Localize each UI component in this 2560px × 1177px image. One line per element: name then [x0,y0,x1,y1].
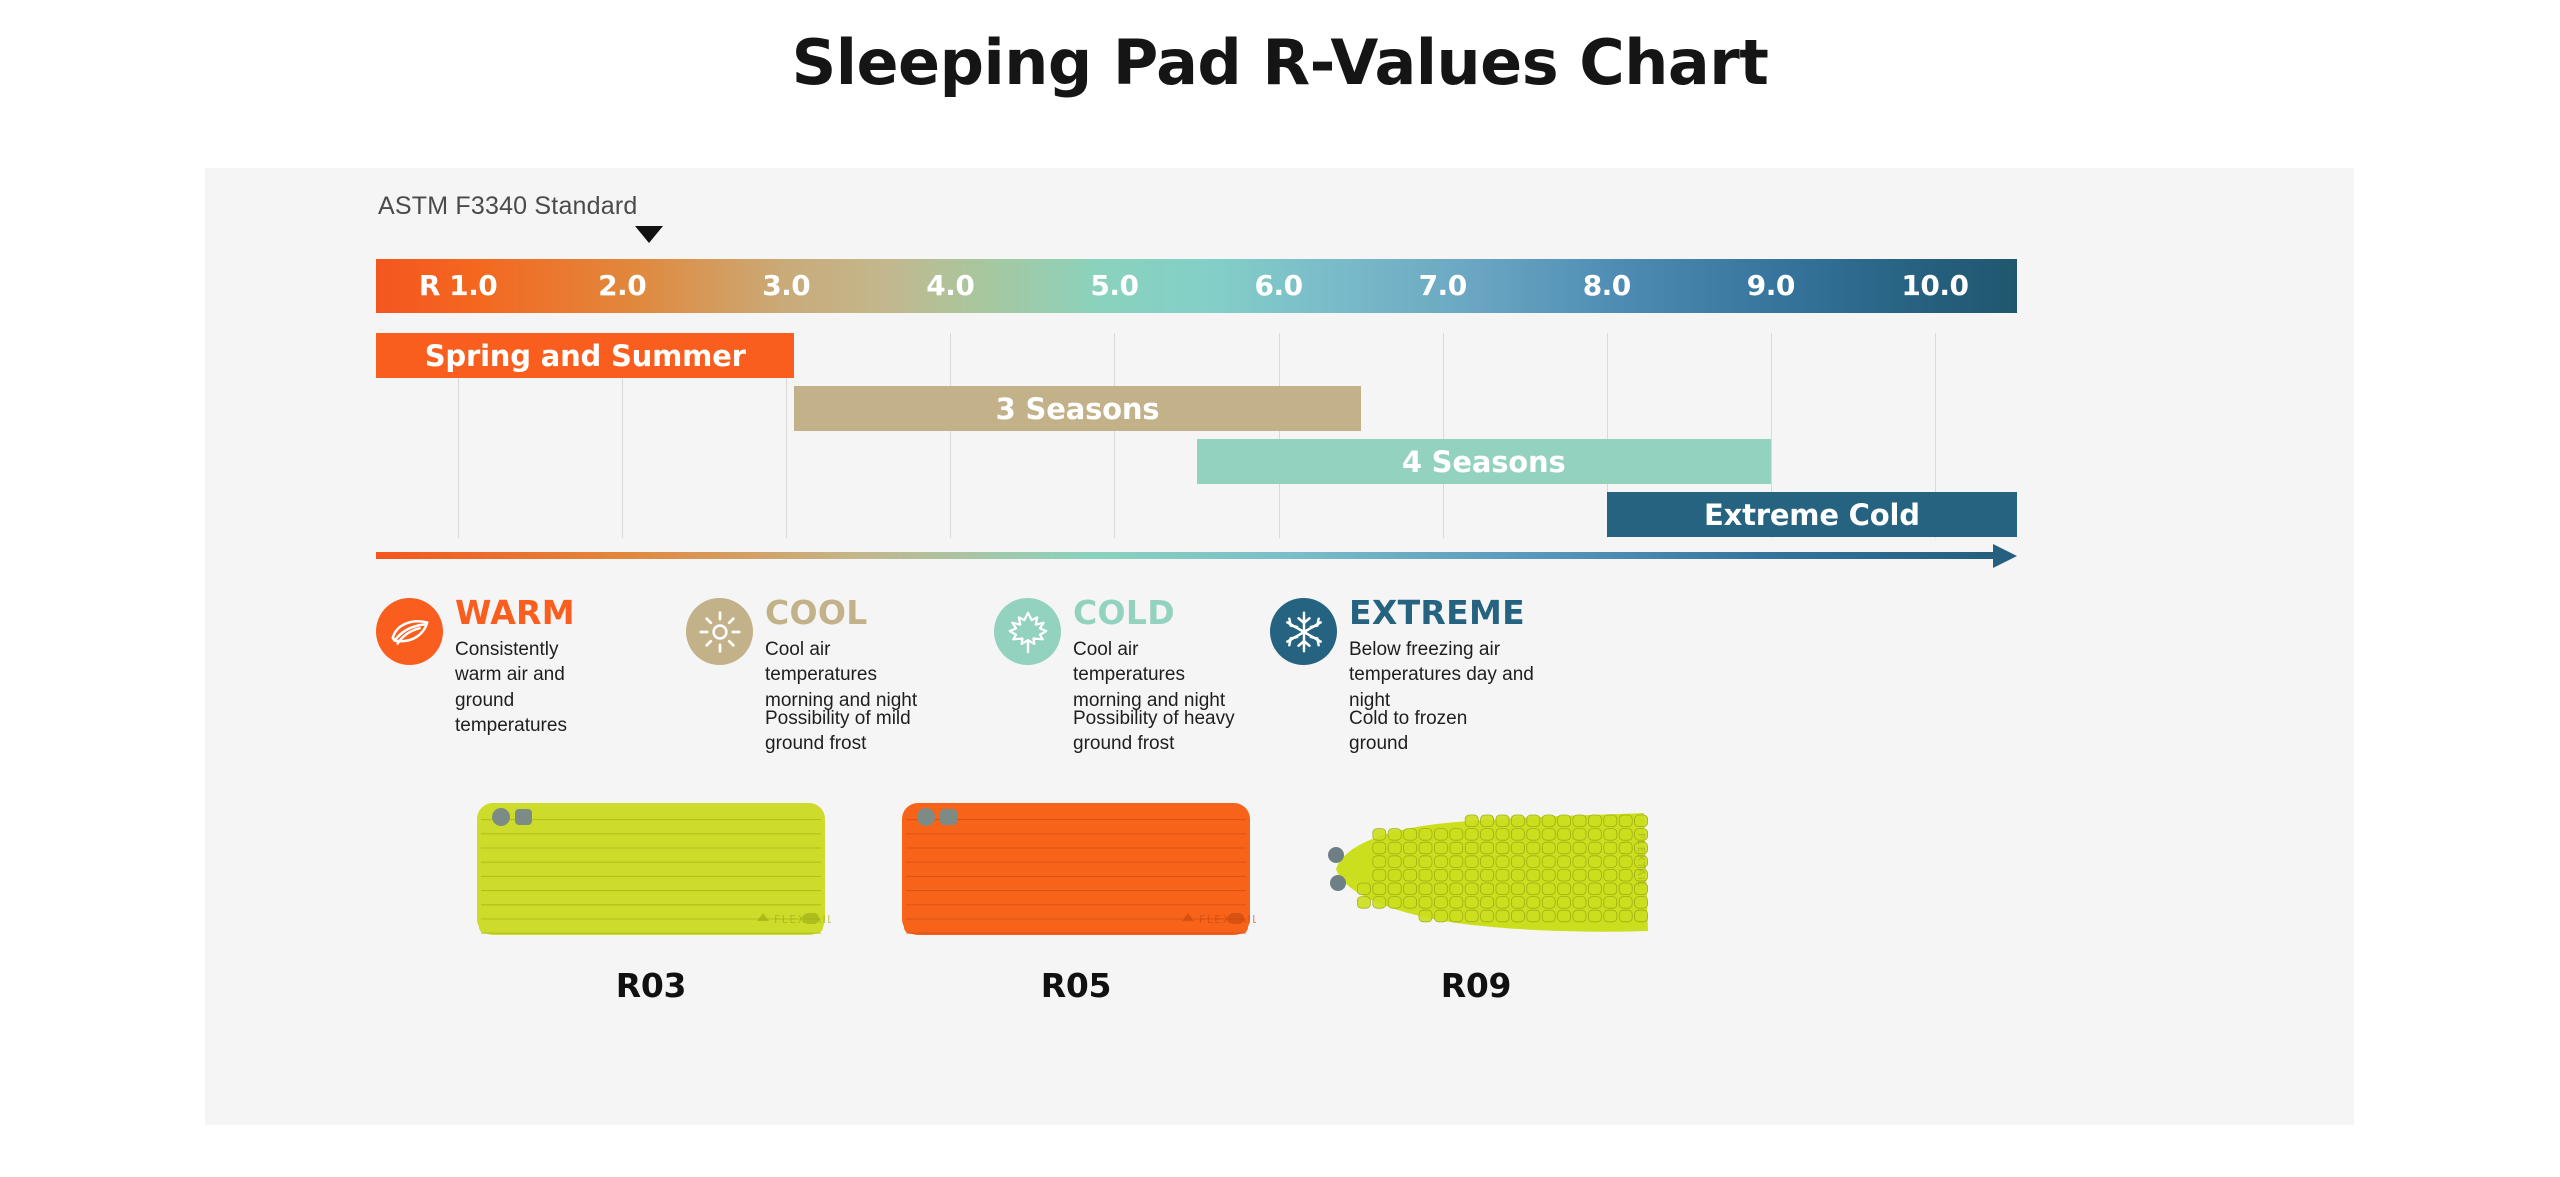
astm-marker-caret-icon [635,226,663,243]
product-image-rectangular-pad: FLEXTAIL [896,793,1256,958]
product-image-rectangular-pad: FLEXTAIL [471,793,831,958]
legend-description-primary: Consistently warm air and ground tempera… [455,637,605,738]
svg-text:FLEXTAIL: FLEXTAIL [1199,913,1256,926]
product-r09[interactable]: FLEXTAIL R09 [1296,793,1656,1005]
legend: WARMConsistently warm air and ground tem… [376,593,2096,758]
legend-description-secondary: Possibility of heavy ground frost [1073,706,1243,757]
scale-tick-6-0: 6.0 [1219,259,1339,313]
scale-tick-8-0: 8.0 [1547,259,1667,313]
svg-text:FLEXTAIL: FLEXTAIL [774,913,831,926]
scale-tick-4-0: 4.0 [890,259,1010,313]
legend-description-secondary: Cold to frozen ground [1349,706,1519,757]
leaf-icon [376,598,443,665]
scale-tick-2-0: 2.0 [562,259,682,313]
season-band-3-seasons: 3 Seasons [794,386,1360,431]
legend-title: COLD [1073,593,1175,632]
astm-standard-label: ASTM F3340 Standard [378,192,638,221]
svg-text:FLEXTAIL: FLEXTAIL [1635,833,1646,888]
legend-title: WARM [455,593,575,632]
legend-description-primary: Cool air temperatures morning and night [765,637,925,713]
scale-tick-1-0: R 1.0 [398,259,518,313]
arrow-head-icon [1993,544,2017,568]
legend-description-secondary: Possibility of mild ground frost [765,706,935,757]
product-label: R05 [896,966,1256,1005]
legend-description-primary: Cool air temperatures morning and night [1073,637,1233,713]
product-gallery: FLEXTAIL R03 FLEXTAIL R05 FLEXTAIL R09 [376,793,2326,1023]
product-label: R03 [471,966,831,1005]
legend-title: COOL [765,593,868,632]
product-r05[interactable]: FLEXTAIL R05 [896,793,1256,1005]
season-band-label: 3 Seasons [996,392,1160,426]
season-band-spring-and-summer: Spring and Summer [376,333,794,378]
season-band-label: 4 Seasons [1402,445,1566,479]
season-band-4-seasons: 4 Seasons [1197,439,1771,484]
scale-tick-5-0: 5.0 [1054,259,1174,313]
scale-tick-10-0: 10.0 [1875,259,1995,313]
infographic-page: Sleeping Pad R-Values Chart ASTM F3340 S… [0,0,2560,1177]
legend-description-primary: Below freezing air temperatures day and … [1349,637,1534,713]
scale-tick-7-0: 7.0 [1383,259,1503,313]
product-label: R09 [1296,966,1656,1005]
legend-title: EXTREME [1349,593,1525,632]
scale-tick-9-0: 9.0 [1711,259,1831,313]
r-value-scale-bar: R 1.02.03.04.05.06.07.08.09.010.0 [376,259,2017,313]
season-band-label: Extreme Cold [1704,498,1920,532]
season-band-extreme-cold: Extreme Cold [1607,492,2017,537]
season-band-label: Spring and Summer [425,339,746,373]
page-title: Sleeping Pad R-Values Chart [0,26,2560,99]
sun-icon [686,598,753,665]
temperature-direction-arrow [376,543,2017,569]
chart-card: ASTM F3340 Standard R 1.02.03.04.05.06.0… [205,168,2354,1125]
maple-leaf-icon [994,598,1061,665]
product-r03[interactable]: FLEXTAIL R03 [471,793,831,1005]
scale-tick-3-0: 3.0 [726,259,846,313]
season-bands: Spring and Summer3 Seasons4 SeasonsExtre… [376,333,2017,538]
snowflake-icon [1270,598,1337,665]
product-image-mummy-pad: FLEXTAIL [1296,793,1656,958]
arrow-line [376,552,1994,559]
